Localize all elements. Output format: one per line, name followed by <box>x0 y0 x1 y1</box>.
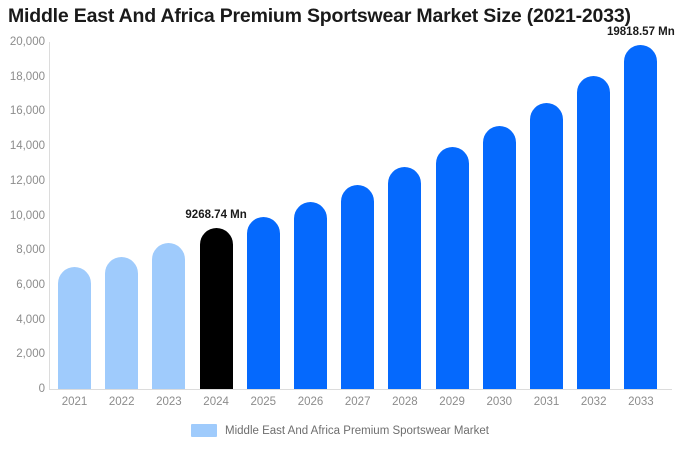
bar[interactable] <box>200 228 233 389</box>
x-axis-tick-label: 2021 <box>50 396 100 408</box>
x-axis-tick-label: 2027 <box>333 396 383 408</box>
plot-area <box>49 42 672 389</box>
x-axis-tick-label: 2022 <box>97 396 147 408</box>
bar[interactable] <box>388 167 421 389</box>
bar[interactable] <box>105 257 138 389</box>
x-axis-tick-label: 2026 <box>286 396 336 408</box>
legend-swatch <box>191 424 217 437</box>
legend-label: Middle East And Africa Premium Sportswea… <box>225 425 489 437</box>
bar-value-label: 9268.74 Mn <box>166 209 266 221</box>
y-axis: 02,0004,0006,0008,00010,00012,00014,0001… <box>0 0 45 450</box>
x-axis-line <box>49 389 672 390</box>
x-axis-tick-label: 2032 <box>569 396 619 408</box>
x-axis-tick-label: 2028 <box>380 396 430 408</box>
bar-value-label: 19818.57 Mn <box>591 26 680 38</box>
y-axis-tick-label: 4,000 <box>1 314 45 326</box>
bar[interactable] <box>341 185 374 389</box>
bar[interactable] <box>294 202 327 389</box>
x-axis-tick-label: 2033 <box>616 396 666 408</box>
x-axis-tick-label: 2031 <box>522 396 572 408</box>
bar[interactable] <box>152 243 185 389</box>
x-axis-tick-label: 2023 <box>144 396 194 408</box>
y-axis-tick-label: 6,000 <box>1 279 45 291</box>
bar[interactable] <box>247 217 280 389</box>
y-axis-tick-label: 8,000 <box>1 244 45 256</box>
chart-legend: Middle East And Africa Premium Sportswea… <box>0 424 680 437</box>
bar[interactable] <box>577 76 610 389</box>
bar[interactable] <box>58 267 91 389</box>
bar[interactable] <box>436 147 469 389</box>
y-axis-tick-label: 2,000 <box>1 348 45 360</box>
y-axis-tick-label: 16,000 <box>1 105 45 117</box>
y-axis-tick-label: 18,000 <box>1 71 45 83</box>
x-axis-tick-label: 2024 <box>191 396 241 408</box>
y-axis-tick-label: 20,000 <box>1 36 45 48</box>
bar[interactable] <box>624 45 657 389</box>
x-axis-tick-label: 2030 <box>474 396 524 408</box>
bar[interactable] <box>530 103 563 389</box>
x-axis-tick-label: 2025 <box>238 396 288 408</box>
y-axis-tick-label: 14,000 <box>1 140 45 152</box>
x-axis-tick-label: 2029 <box>427 396 477 408</box>
y-axis-tick-label: 10,000 <box>1 210 45 222</box>
y-axis-tick-label: 0 <box>1 383 45 395</box>
chart-title: Middle East And Africa Premium Sportswea… <box>8 4 672 28</box>
bar-chart: Middle East And Africa Premium Sportswea… <box>0 0 680 450</box>
bar[interactable] <box>483 126 516 389</box>
y-axis-tick-label: 12,000 <box>1 175 45 187</box>
